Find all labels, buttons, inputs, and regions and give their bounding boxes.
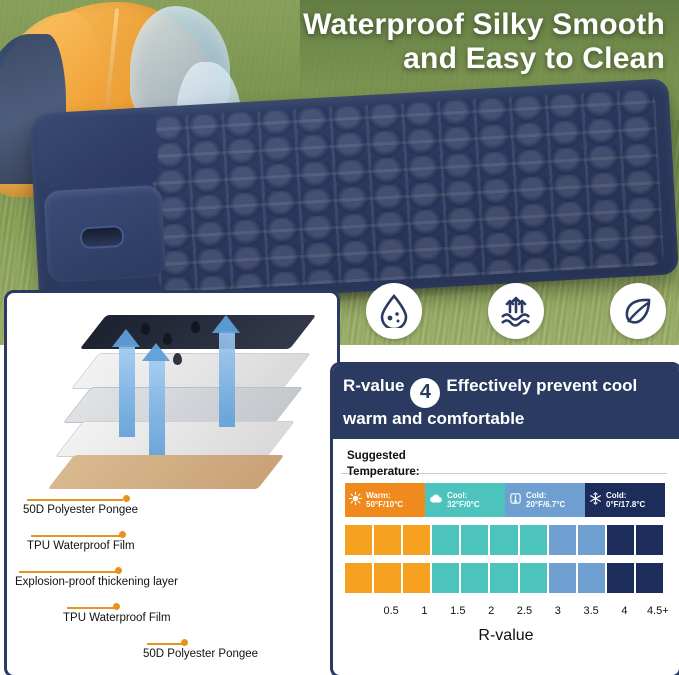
callout-label-1: 50D Polyester Pongee <box>23 504 138 516</box>
temperature-legend: Warm: 50°F/10°C Cool: 32°F/0°C <box>345 483 665 517</box>
water-droplet-5 <box>173 353 182 365</box>
air-flow-arrow-3 <box>219 331 235 427</box>
callout-label-3: Explosion-proof thickening layer <box>15 576 178 588</box>
layer-diagram-panel: 50D Polyester Pongee TPU Waterproof Film… <box>4 290 340 675</box>
callout-dot-5 <box>181 639 188 646</box>
rvalue-bar-segment <box>578 525 607 555</box>
rvalue-bar-segment <box>403 563 432 593</box>
rvalue-badge: 4 <box>410 378 440 408</box>
callout-dot-3 <box>115 567 122 574</box>
rvalue-bar-segment <box>461 563 490 593</box>
layer-bottom-pongee <box>48 455 285 489</box>
rvalue-tick: 2.5 <box>517 605 532 617</box>
cloud-icon <box>429 492 443 507</box>
rvalue-bar-upper <box>345 525 665 555</box>
infographic-page: Waterproof Silky Smooth and Easy to Clea… <box>0 0 679 675</box>
suggested-label-line-1: Suggested <box>347 449 420 465</box>
rvalue-tick: 3.5 <box>583 605 598 617</box>
rvalue-bar-segment <box>636 525 665 555</box>
callout-line-2 <box>31 535 123 537</box>
air-flow-arrow-head-2 <box>142 343 170 361</box>
callout-label-5: 50D Polyester Pongee <box>143 648 258 660</box>
temp-cool-value: 32°F/0°C <box>447 500 480 509</box>
rvalue-bar-segment <box>578 563 607 593</box>
temperature-chip-cold-text: Cold: 20°F/6.7°C <box>526 491 565 509</box>
rvalue-tick: 1 <box>421 605 427 617</box>
suggested-label-line-2: Temperature: <box>347 465 420 481</box>
rvalue-bar-segment <box>490 525 519 555</box>
snowflake-icon <box>589 492 602 507</box>
temperature-chip-freezing: Cold: 0°F/17.8°C <box>585 483 665 517</box>
headline: Waterproof Silky Smooth and Easy to Clea… <box>195 8 665 75</box>
rvalue-title-after-1: Effectively prevent cool <box>446 376 637 395</box>
temp-freezing-value: 0°F/17.8°C <box>606 500 645 509</box>
callout-line-3 <box>19 571 119 573</box>
temp-warm-value: 50°F/10°C <box>366 500 403 509</box>
callout-dot-2 <box>119 531 126 538</box>
rvalue-tick: 1.5 <box>450 605 465 617</box>
temp-cool-name: Cool: <box>447 491 467 500</box>
callout-dot-4 <box>113 603 120 610</box>
rvalue-bar-segment <box>549 525 578 555</box>
rvalue-bar-segment <box>636 563 665 593</box>
rvalue-title-before: R-value <box>343 376 404 395</box>
temperature-chip-cold: Cold: 20°F/6.7°C <box>505 483 585 517</box>
rvalue-bar-segment <box>607 525 636 555</box>
temp-cold-value: 20°F/6.7°C <box>526 500 565 509</box>
temp-warm-name: Warm: <box>366 491 391 500</box>
sun-icon <box>349 492 362 507</box>
rvalue-bar-segment <box>374 563 403 593</box>
rvalue-bar-segment <box>432 563 461 593</box>
air-flow-arrow-head-1 <box>112 329 140 347</box>
rvalue-tick: 4 <box>621 605 627 617</box>
headline-line-1: Waterproof Silky Smooth <box>195 8 665 42</box>
rvalue-bar-segment <box>403 525 432 555</box>
temperature-chip-cool-text: Cool: 32°F/0°C <box>447 491 480 509</box>
water-droplet-3 <box>191 321 200 333</box>
rvalue-tick: 3 <box>555 605 561 617</box>
rvalue-bar-segment <box>345 563 374 593</box>
callout-label-4: TPU Waterproof Film <box>63 612 171 624</box>
layer-tpu-film-top <box>71 353 311 389</box>
layer-tpu-film-bottom <box>55 421 295 457</box>
rvalue-header: R-value4Effectively prevent cool warm an… <box>333 365 679 439</box>
rvalue-bar-segment <box>549 563 578 593</box>
rvalue-panel: R-value4Effectively prevent cool warm an… <box>330 362 679 675</box>
rvalue-axis-label: R-value <box>333 627 679 645</box>
rvalue-bar-segment <box>461 525 490 555</box>
feature-eco <box>610 283 666 339</box>
water-drop-icon <box>379 294 409 328</box>
rvalue-bar-segment <box>374 525 403 555</box>
leaf-icon <box>622 295 654 327</box>
rvalue-tick: 0.5 <box>383 605 398 617</box>
air-flow-arrow-head-3 <box>212 315 240 333</box>
feature-breathable <box>488 283 544 339</box>
callout-line-5 <box>147 643 185 645</box>
rvalue-header-text: R-value4Effectively prevent cool warm an… <box>343 375 637 429</box>
pad-valve <box>79 225 124 249</box>
feature-icon-row <box>366 282 666 340</box>
temp-freezing-name: Cold: <box>606 491 626 500</box>
rvalue-bar-segment <box>345 525 374 555</box>
rvalue-bar-segment <box>520 563 549 593</box>
air-flow-arrow-1 <box>119 345 135 437</box>
layer-explosion-proof <box>63 387 303 423</box>
pad-bump-texture <box>149 89 664 293</box>
temperature-chip-freezing-text: Cold: 0°F/17.8°C <box>606 491 645 509</box>
rvalue-bar-lower <box>345 563 665 593</box>
temp-cold-name: Cold: <box>526 491 546 500</box>
rvalue-bars <box>345 525 665 601</box>
temperature-chip-warm: Warm: 50°F/10°C <box>345 483 425 517</box>
water-droplet-1 <box>141 323 150 335</box>
rvalue-bar-segment <box>520 525 549 555</box>
feature-waterproof <box>366 283 422 339</box>
air-flow-arrow-2 <box>149 359 165 455</box>
temperature-chip-cool: Cool: 32°F/0°C <box>425 483 505 517</box>
rvalue-bar-segment <box>607 563 636 593</box>
rvalue-bar-segment <box>490 563 519 593</box>
pad-head-section <box>35 113 159 190</box>
thermometer-icon <box>509 492 522 507</box>
temperature-chip-warm-text: Warm: 50°F/10°C <box>366 491 403 509</box>
callout-line-4 <box>67 607 117 609</box>
callout-line-1 <box>27 499 123 501</box>
callout-label-2: TPU Waterproof Film <box>27 540 135 552</box>
layer-stack <box>23 309 323 499</box>
rvalue-title-after-2: warm and comfortable <box>343 408 637 429</box>
callout-dot-1 <box>123 495 130 502</box>
rvalue-tick: 2 <box>488 605 494 617</box>
sleeping-pad <box>29 78 679 309</box>
breathable-waves-icon <box>499 295 533 327</box>
headline-line-2: and Easy to Clean <box>195 42 665 76</box>
rvalue-bar-segment <box>432 525 461 555</box>
suggested-temperature-label: Suggested Temperature: <box>347 449 420 480</box>
rvalue-tick: 4.5+ <box>647 605 669 617</box>
